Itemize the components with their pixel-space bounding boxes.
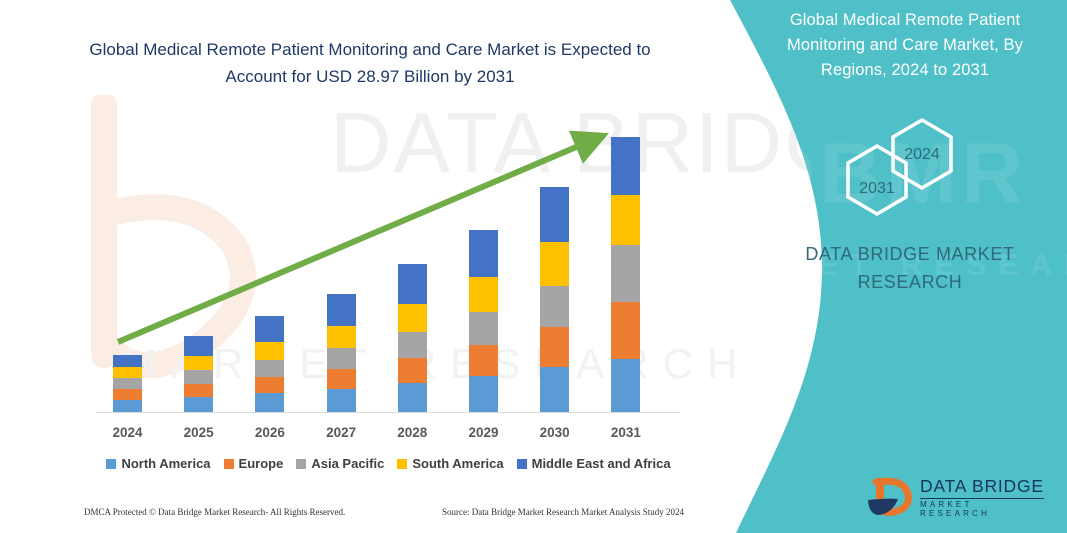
legend-swatch-icon: [296, 459, 306, 469]
hexagon-group: 2031 2024: [700, 108, 1067, 218]
legend-label: North America: [121, 456, 210, 471]
bar-segment: [398, 383, 427, 412]
bar-segment: [327, 369, 356, 389]
bar-segment: [255, 393, 284, 412]
footer-source: Source: Data Bridge Market Research Mark…: [442, 507, 684, 517]
bar-2024: [113, 355, 142, 412]
bar-segment: [184, 397, 213, 412]
panel-title: Global Medical Remote Patient Monitoring…: [760, 8, 1050, 83]
growth-arrow-icon: [100, 120, 620, 360]
company-logo: DATA BRIDGE MARKET RESEARCH: [864, 472, 1044, 524]
bar-segment: [113, 389, 142, 400]
x-label-2030: 2030: [520, 425, 590, 440]
x-label-2026: 2026: [235, 425, 305, 440]
bar-segment: [540, 367, 569, 412]
legend-item[interactable]: Europe: [224, 456, 284, 471]
bar-segment: [398, 358, 427, 383]
legend-item[interactable]: North America: [106, 456, 210, 471]
legend-item[interactable]: Middle East and Africa: [517, 456, 671, 471]
legend-swatch-icon: [397, 459, 407, 469]
panel-brand-text: DATA BRIDGE MARKET RESEARCH: [760, 240, 1060, 296]
logo-divider: [920, 498, 1044, 499]
bar-segment: [113, 378, 142, 389]
x-label-2027: 2027: [306, 425, 376, 440]
legend-label: South America: [412, 456, 503, 471]
x-axis-line: [96, 412, 680, 413]
infographic-slide: DATA BRIDGE MARKET RESEARCH Global Medic…: [0, 0, 1067, 533]
x-label-2028: 2028: [377, 425, 447, 440]
hexagon-label-2024: 2024: [876, 146, 968, 164]
bar-segment: [469, 376, 498, 412]
bar-segment: [184, 384, 213, 397]
bar-segment: [255, 377, 284, 393]
logo-wordmark: DATA BRIDGE MARKET RESEARCH: [920, 476, 1044, 518]
bar-segment: [327, 389, 356, 412]
bar-segment: [113, 400, 142, 412]
hexagon-label-2031: 2031: [831, 180, 923, 198]
legend-label: Middle East and Africa: [532, 456, 671, 471]
legend-swatch-icon: [224, 459, 234, 469]
legend-label: Asia Pacific: [311, 456, 384, 471]
x-label-2024: 2024: [93, 425, 163, 440]
chart-legend: North AmericaEuropeAsia PacificSouth Ame…: [96, 456, 681, 471]
databridge-mark-icon: [864, 472, 916, 522]
x-label-2025: 2025: [164, 425, 234, 440]
chart-plot-area: 20242025202620272028202920302031: [0, 0, 700, 533]
logo-line2: MARKET RESEARCH: [920, 500, 1044, 518]
legend-label: Europe: [239, 456, 284, 471]
footer-copyright: DMCA Protected © Data Bridge Market Rese…: [84, 507, 345, 517]
logo-line1: DATA BRIDGE: [920, 476, 1044, 497]
right-panel: DBMR MARKET RESEARCH Global Medical Remo…: [700, 0, 1067, 533]
x-label-2029: 2029: [449, 425, 519, 440]
footer: DMCA Protected © Data Bridge Market Rese…: [84, 507, 684, 517]
bar-segment: [611, 359, 640, 412]
bar-segment: [184, 370, 213, 384]
legend-swatch-icon: [106, 459, 116, 469]
legend-item[interactable]: Asia Pacific: [296, 456, 384, 471]
bar-segment: [255, 360, 284, 377]
bar-segment: [113, 367, 142, 378]
x-label-2031: 2031: [591, 425, 661, 440]
legend-swatch-icon: [517, 459, 527, 469]
legend-item[interactable]: South America: [397, 456, 503, 471]
